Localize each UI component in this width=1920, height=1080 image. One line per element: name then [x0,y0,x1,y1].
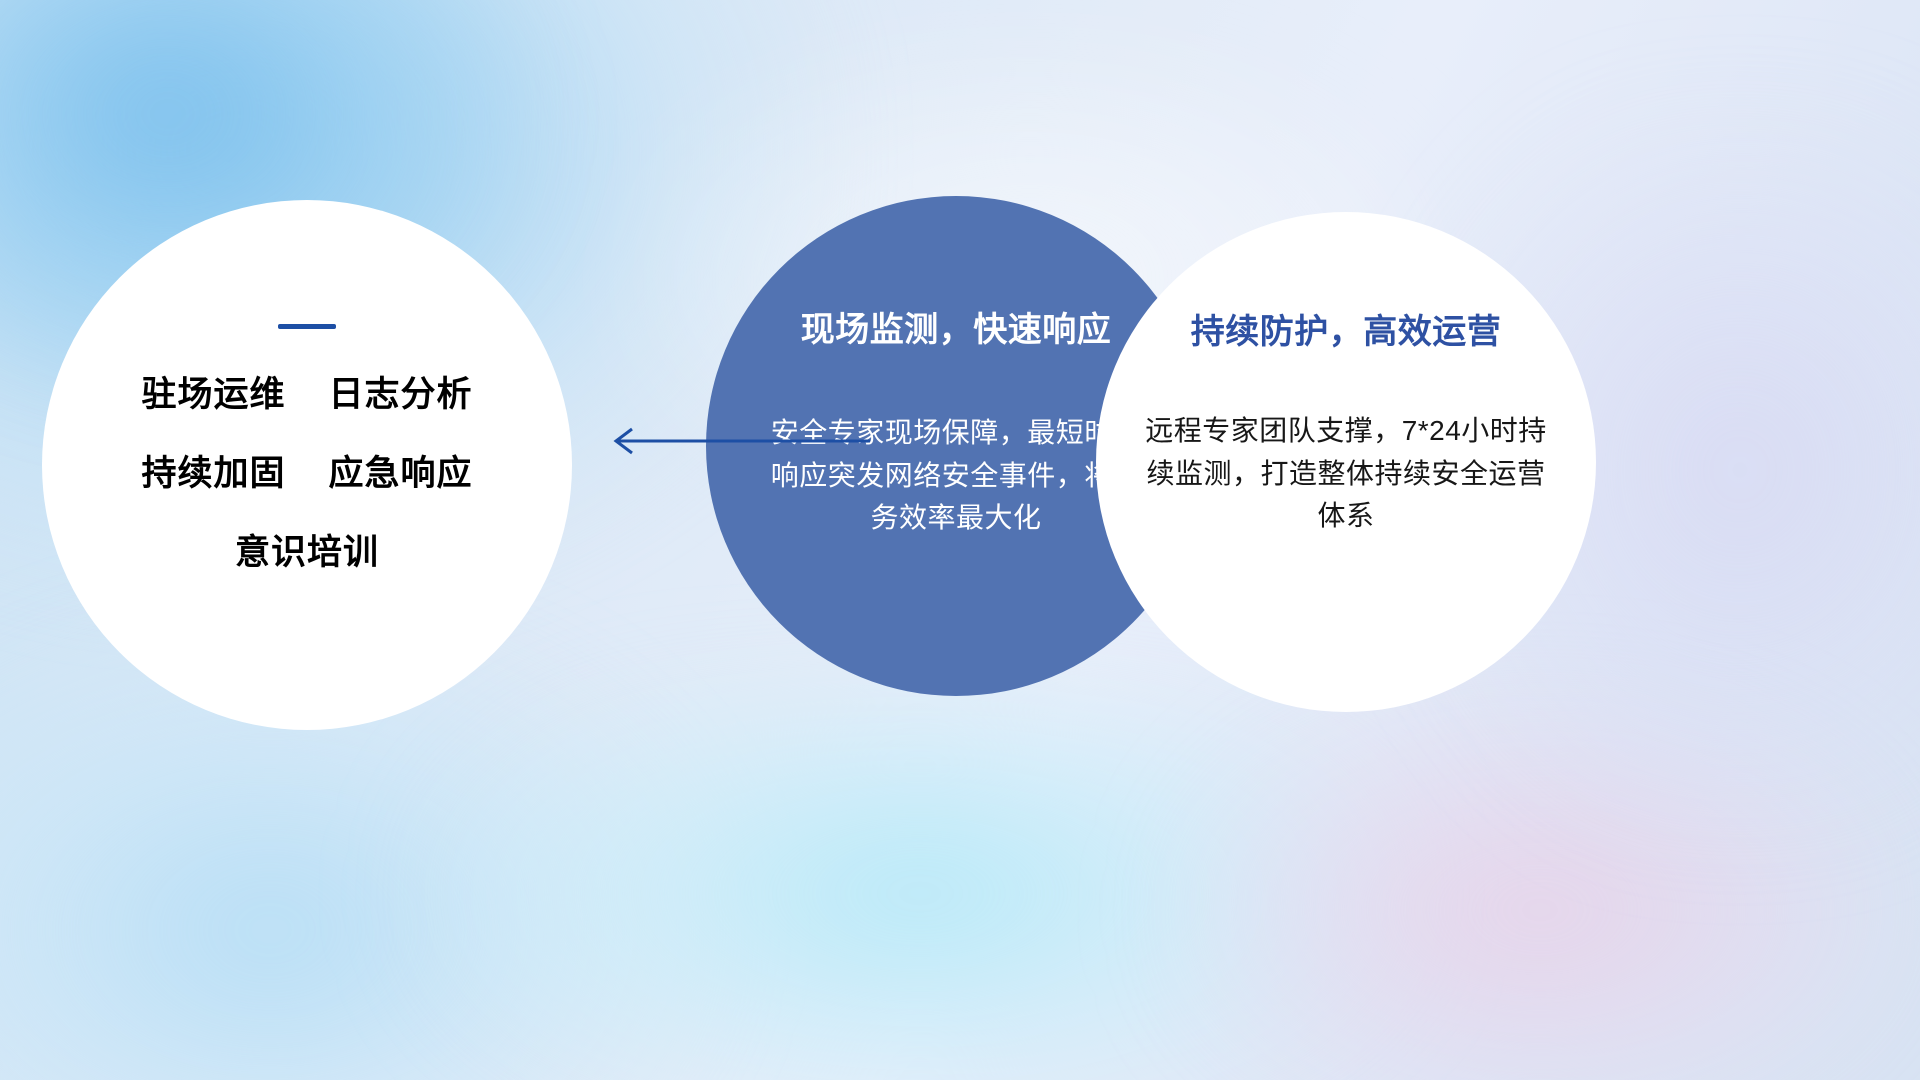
continuous-protection-body: 远程专家团队支撑，7*24小时持续监测，打造整体持续安全运营体系 [1142,410,1550,538]
service-line-1: 驻场运维 日志分析 [142,377,473,412]
continuous-protection-title: 持续防护，高效运营 [1096,304,1596,353]
flow-arrow-left-icon [602,418,872,464]
service-line-3: 意识培训 [235,535,379,570]
slide-canvas: 驻场运维 日志分析 持续加固 应急响应 意识培训 现场监测，快速响应 安全专家现… [0,0,1920,1080]
service-line-2: 持续加固 应急响应 [142,456,473,491]
continuous-protection-circle: 持续防护，高效运营 远程专家团队支撑，7*24小时持续监测，打造整体持续安全运营… [1096,212,1596,712]
accent-dash-icon [278,324,336,329]
services-circle: 驻场运维 日志分析 持续加固 应急响应 意识培训 [42,200,572,730]
